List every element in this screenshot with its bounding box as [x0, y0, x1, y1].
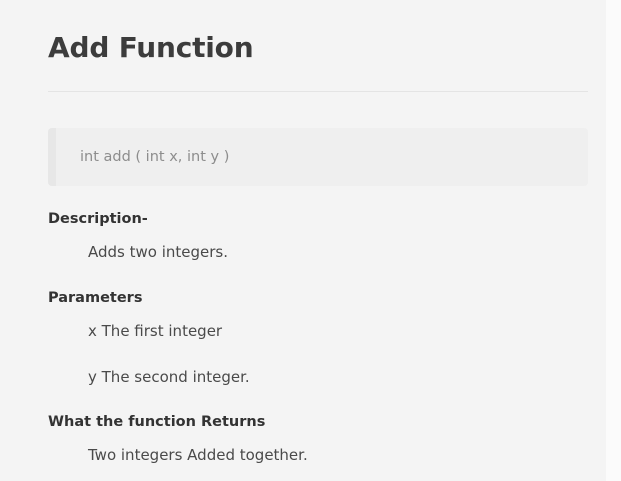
section-heading-parameters: Parameters — [48, 288, 588, 308]
section-body-description: Adds two integers. — [88, 241, 588, 263]
title-divider — [48, 91, 588, 92]
function-signature-text: int add ( int x, int y ) — [80, 128, 229, 186]
section-parameters: Parameters x The first integer y The sec… — [48, 288, 588, 388]
signature-code: int add ( int x, int y ) — [80, 149, 229, 165]
signature-accent-bar — [48, 128, 56, 186]
description-line-1: Adds two integers. — [88, 241, 588, 263]
parameter-line-y: y The second integer. — [88, 366, 588, 388]
section-heading-description: Description- — [48, 209, 588, 229]
section-returns: What the function Returns Two integers A… — [48, 412, 588, 466]
section-body-parameters: x The first integer y The second integer… — [88, 320, 588, 388]
returns-line-1: Two integers Added together. — [88, 444, 588, 466]
function-signature-block: int add ( int x, int y ) — [48, 128, 588, 186]
page-right-margin — [606, 0, 621, 481]
section-description: Description- Adds two integers. — [48, 209, 588, 263]
document-page: Add Function int add ( int x, int y ) De… — [0, 0, 606, 481]
parameter-line-x: x The first integer — [88, 320, 588, 342]
section-heading-returns: What the function Returns — [48, 412, 588, 432]
section-body-returns: Two integers Added together. — [88, 444, 588, 466]
page-title: Add Function — [48, 31, 253, 65]
